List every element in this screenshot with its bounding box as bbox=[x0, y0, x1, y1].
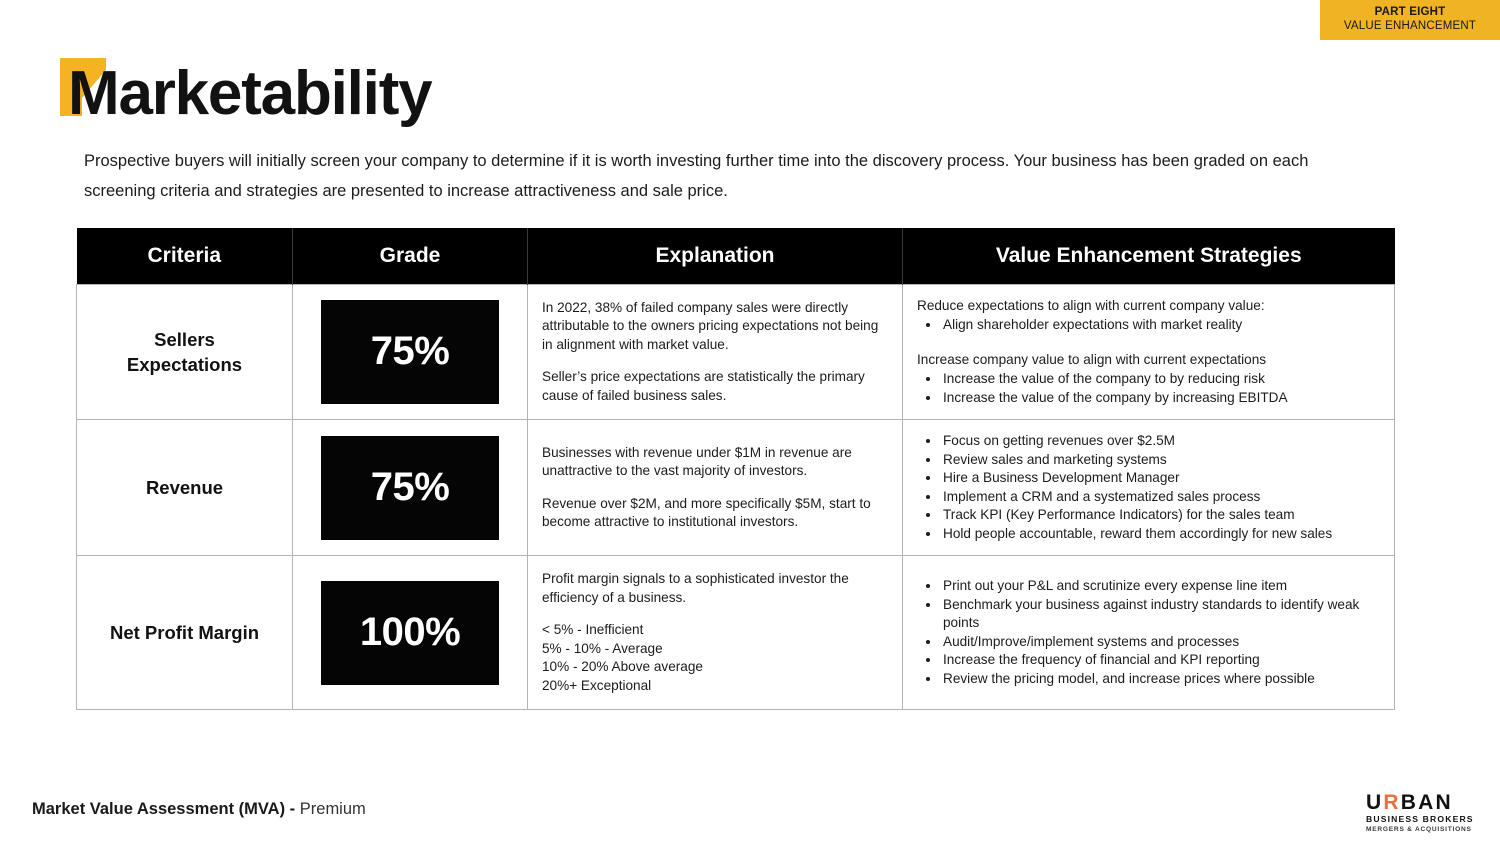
table-header-row: Criteria Grade Explanation Value Enhance… bbox=[77, 228, 1395, 284]
table-row: Sellers Expectations 75% In 2022, 38% of… bbox=[77, 284, 1395, 420]
grade-value: 75% bbox=[321, 300, 499, 404]
text-line: 10% - 20% Above average bbox=[542, 658, 886, 677]
margin-tier-list: < 5% - Inefficient5% - 10% - Average10% … bbox=[542, 621, 886, 695]
list-item: Increase the frequency of financial and … bbox=[941, 651, 1380, 670]
strategies-list: Print out your P&L and scrutinize every … bbox=[917, 577, 1380, 688]
list-item: Align shareholder expectations with mark… bbox=[941, 316, 1380, 335]
table-body: Sellers Expectations 75% In 2022, 38% of… bbox=[77, 284, 1395, 710]
spacer bbox=[917, 335, 1380, 351]
footer-document-label: Market Value Assessment (MVA) - Premium bbox=[32, 800, 366, 819]
column-header-grade: Grade bbox=[293, 228, 528, 284]
page-title: Marketability bbox=[68, 58, 431, 130]
logo-subtagline: MERGERS & ACQUISITIONS bbox=[1366, 825, 1484, 835]
logo-tagline: BUSINESS BROKERS bbox=[1366, 813, 1484, 825]
list-item: Hire a Business Development Manager bbox=[941, 469, 1380, 488]
part-badge-section-label: VALUE ENHANCEMENT bbox=[1344, 20, 1476, 34]
list-item: Audit/Improve/implement systems and proc… bbox=[941, 633, 1380, 652]
column-header-strategies: Value Enhancement Strategies bbox=[903, 228, 1395, 284]
list-item: Hold people accountable, reward them acc… bbox=[941, 525, 1380, 544]
explanation-paragraph: Businesses with revenue under $1M in rev… bbox=[542, 444, 886, 481]
list-item: Implement a CRM and a systematized sales… bbox=[941, 488, 1380, 507]
explanation-cell: In 2022, 38% of failed company sales wer… bbox=[528, 284, 903, 420]
list-item: Increase the value of the company by inc… bbox=[941, 389, 1380, 408]
strategies-list: Focus on getting revenues over $2.5MRevi… bbox=[917, 432, 1380, 543]
explanation-paragraph: Profit margin signals to a sophisticated… bbox=[542, 570, 886, 607]
text-line: < 5% - Inefficient bbox=[542, 621, 886, 640]
part-badge: PART EIGHT VALUE ENHANCEMENT bbox=[1320, 0, 1500, 40]
criteria-cell: Sellers Expectations bbox=[77, 284, 293, 420]
logo-word-pre: U bbox=[1366, 791, 1383, 814]
strategies-cell: Print out your P&L and scrutinize every … bbox=[903, 556, 1395, 710]
list-item: Increase the value of the company to by … bbox=[941, 370, 1380, 389]
criteria-cell: Net Profit Margin bbox=[77, 556, 293, 710]
footer-plan-name: Premium bbox=[300, 800, 366, 818]
intro-paragraph: Prospective buyers will initially screen… bbox=[84, 146, 1354, 206]
table-row: Net Profit Margin 100% Profit margin sig… bbox=[77, 556, 1395, 710]
explanation-paragraph: In 2022, 38% of failed company sales wer… bbox=[542, 299, 886, 355]
list-item: Review the pricing model, and increase p… bbox=[941, 670, 1380, 689]
explanation-paragraph: Revenue over $2M, and more specifically … bbox=[542, 495, 886, 532]
table-header: Criteria Grade Explanation Value Enhance… bbox=[77, 228, 1395, 284]
list-item: Benchmark your business against industry… bbox=[941, 596, 1380, 633]
criteria-label-line1: Sellers bbox=[87, 327, 282, 352]
text-line: 20%+ Exceptional bbox=[542, 677, 886, 696]
strategies-cell: Focus on getting revenues over $2.5MRevi… bbox=[903, 420, 1395, 556]
criteria-label-line1: Revenue bbox=[87, 475, 282, 500]
part-badge-part-label: PART EIGHT bbox=[1375, 6, 1446, 20]
strategies-list: Align shareholder expectations with mark… bbox=[917, 316, 1380, 335]
criteria-cell: Revenue bbox=[77, 420, 293, 556]
explanation-paragraph: Seller’s price expectations are statisti… bbox=[542, 368, 886, 405]
list-item: Focus on getting revenues over $2.5M bbox=[941, 432, 1380, 451]
explanation-cell: Profit margin signals to a sophisticated… bbox=[528, 556, 903, 710]
page-title-block: Marketability bbox=[60, 58, 431, 130]
urban-business-brokers-logo: URBAN BUSINESS BROKERS MERGERS & ACQUISI… bbox=[1366, 792, 1484, 835]
grade-value: 100% bbox=[321, 581, 499, 685]
column-header-explanation: Explanation bbox=[528, 228, 903, 284]
explanation-cell: Businesses with revenue under $1M in rev… bbox=[528, 420, 903, 556]
slide-page: PART EIGHT VALUE ENHANCEMENT Marketabili… bbox=[0, 0, 1500, 844]
logo-wordmark: URBAN bbox=[1366, 792, 1484, 813]
criteria-label-line2: Expectations bbox=[87, 352, 282, 377]
list-item: Track KPI (Key Performance Indicators) f… bbox=[941, 506, 1380, 525]
grade-cell: 100% bbox=[293, 556, 528, 710]
table-row: Revenue 75% Businesses with revenue unde… bbox=[77, 420, 1395, 556]
list-item: Review sales and marketing systems bbox=[941, 451, 1380, 470]
grade-value: 75% bbox=[321, 436, 499, 540]
strategies-cell: Reduce expectations to align with curren… bbox=[903, 284, 1395, 420]
list-item: Print out your P&L and scrutinize every … bbox=[941, 577, 1380, 596]
grade-cell: 75% bbox=[293, 420, 528, 556]
strategies-lead: Reduce expectations to align with curren… bbox=[917, 297, 1380, 316]
criteria-label-line1: Net Profit Margin bbox=[87, 620, 282, 645]
column-header-criteria: Criteria bbox=[77, 228, 293, 284]
footer-document-name: Market Value Assessment (MVA) - bbox=[32, 800, 295, 818]
marketability-table: Criteria Grade Explanation Value Enhance… bbox=[76, 228, 1395, 710]
strategies-list: Increase the value of the company to by … bbox=[917, 370, 1380, 407]
strategies-lead: Increase company value to align with cur… bbox=[917, 351, 1380, 370]
grade-cell: 75% bbox=[293, 284, 528, 420]
text-line: 5% - 10% - Average bbox=[542, 640, 886, 659]
logo-word-post: BAN bbox=[1401, 791, 1453, 814]
logo-letter-r-accent: R bbox=[1383, 791, 1400, 814]
